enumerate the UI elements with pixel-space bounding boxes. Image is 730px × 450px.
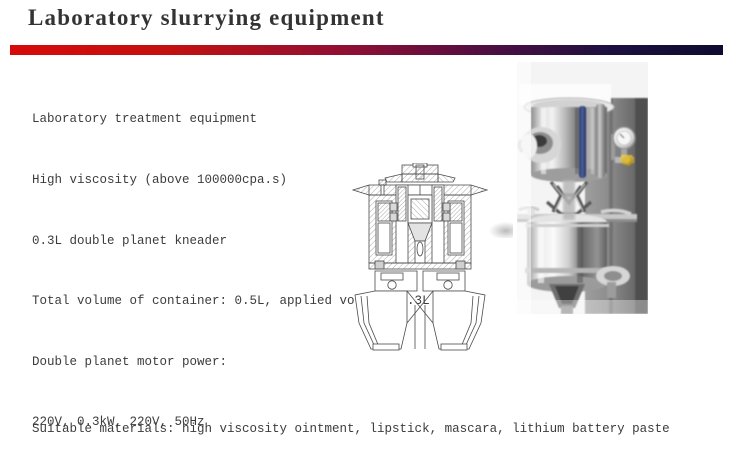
equipment-photo (517, 62, 648, 314)
spec-line: Laboratory treatment equipment (32, 109, 352, 129)
document-page: Laboratory slurrying equipment Laborator… (0, 0, 730, 450)
gradient-divider (10, 45, 723, 55)
materials-text-block: Suitable materials: high viscosity ointm… (32, 381, 702, 450)
spec-line: High viscosity (above 100000cpa.s) (32, 170, 352, 190)
spec-line: Total volume of container: 0.5L, applied… (32, 291, 352, 311)
technical-drawing-figure (345, 163, 495, 361)
page-title: Laboratory slurrying equipment (28, 5, 385, 31)
materials-line: Suitable materials: high viscosity ointm… (32, 420, 702, 440)
spec-line: 0.3L double planet kneader (32, 231, 352, 251)
spec-line: Double planet motor power: (32, 352, 352, 372)
photo-edge-artifact (489, 222, 513, 238)
